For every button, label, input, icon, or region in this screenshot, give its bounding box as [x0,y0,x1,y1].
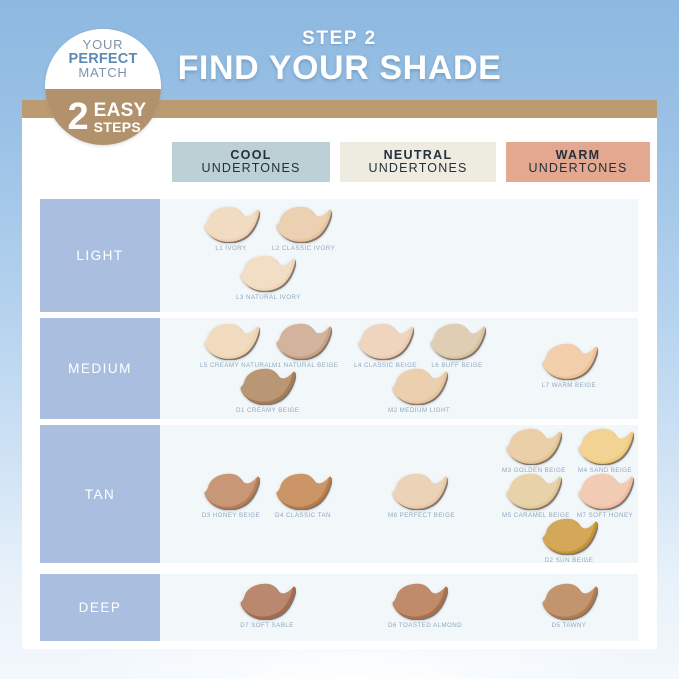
column-subtitle-warm: UNDERTONES [528,162,627,176]
shade-blob-icon [238,254,296,292]
shade-swatch[interactable]: L6 BUFF BEIGE [426,322,488,369]
shade-row-light: LIGHT L1 IVORYL2 CLASSIC IVORYL3 NATURAL… [40,199,638,312]
shade-blob-icon [390,582,448,620]
shade-name-label: D4 CLASSIC TAN [272,512,334,519]
shade-swatch[interactable]: M6 PERFECT BEIGE [388,472,450,519]
shade-blob-icon [504,427,562,465]
badge-bottom-half: 2 EASY STEPS [45,89,161,145]
shade-swatch[interactable]: D2 SUN BEIGE [538,517,600,564]
row-label-light: LIGHT [40,199,160,312]
column-subtitle-neutral: UNDERTONES [368,162,467,176]
shade-blob-icon [202,322,260,360]
column-title-neutral: NEUTRAL [384,149,453,163]
row-label-medium: MEDIUM [40,318,160,419]
shade-name-label: D6 TOASTED ALMOND [388,622,450,629]
column-headers: COOL UNDERTONES NEUTRAL UNDERTONES WARM … [172,142,650,182]
badge-line-perfect: PERFECT [68,52,137,67]
column-title-warm: WARM [556,149,601,163]
column-header-cool: COOL UNDERTONES [172,142,330,182]
shade-swatch[interactable]: M4 SAND BEIGE [574,427,636,474]
column-header-neutral: NEUTRAL UNDERTONES [340,142,496,182]
row-label-tan: TAN [40,425,160,563]
badge-step-number: 2 [67,98,88,136]
shade-swatch[interactable]: D5 TAWNY [538,582,600,629]
shade-name-label: M6 PERFECT BEIGE [388,512,450,519]
shade-swatch[interactable]: D3 HONEY BEIGE [200,472,262,519]
column-subtitle-cool: UNDERTONES [201,162,300,176]
shade-name-label: D5 TAWNY [538,622,600,629]
shade-blob-icon [390,472,448,510]
shade-name-label: D7 SOFT SABLE [236,622,298,629]
shade-name-label: D1 CREAMY BEIGE [236,407,298,414]
badge-steps-label: STEPS [94,120,147,134]
shade-swatch[interactable]: M2 MEDIUM LIGHT [388,367,450,414]
perfect-match-badge: YOUR PERFECT MATCH 2 EASY STEPS [45,29,161,145]
shade-swatch[interactable]: D7 SOFT SABLE [236,582,298,629]
shade-blob-icon [274,472,332,510]
shade-blob-icon [390,367,448,405]
shade-row-tan: TAN M3 GOLDEN BEIGEM4 SAND BEIGED3 HONEY… [40,425,638,563]
row-label-deep: DEEP [40,574,160,641]
column-title-cool: COOL [230,149,271,163]
shade-swatch[interactable]: M7 SOFT HONEY [574,472,636,519]
shade-name-label: D3 HONEY BEIGE [200,512,262,519]
shade-swatch[interactable]: L5 CREAMY NATURAL [200,322,262,369]
shade-blob-icon [274,322,332,360]
shade-name-label: M2 MEDIUM LIGHT [388,407,450,414]
shade-blob-icon [428,322,486,360]
shade-chart-card: COOL UNDERTONES NEUTRAL UNDERTONES WARM … [22,118,657,649]
shade-swatch[interactable]: L4 CLASSIC BEIGE [354,322,416,369]
shade-blob-icon [356,322,414,360]
shade-swatch[interactable]: L7 WARM BEIGE [538,342,600,389]
shade-name-label: L2 CLASSIC IVORY [272,245,334,252]
shade-blob-icon [540,517,598,555]
shade-blob-icon [540,342,598,380]
shade-name-label: L7 WARM BEIGE [538,382,600,389]
shade-blob-icon [540,582,598,620]
shade-name-label: L1 IVORY [200,245,262,252]
badge-top-half: YOUR PERFECT MATCH [45,29,161,89]
shade-swatch[interactable]: D4 CLASSIC TAN [272,472,334,519]
shade-blob-icon [202,472,260,510]
badge-easy-steps: EASY STEPS [94,101,147,134]
shade-blob-icon [274,205,332,243]
shade-blob-icon [576,427,634,465]
shade-swatch[interactable]: D1 CREAMY BEIGE [236,367,298,414]
shade-swatch[interactable]: L1 IVORY [200,205,262,252]
shade-row-deep: DEEP D7 SOFT SABLED6 TOASTED ALMONDD5 TA… [40,574,638,641]
shade-swatch[interactable]: D6 TOASTED ALMOND [388,582,450,629]
column-header-warm: WARM UNDERTONES [506,142,650,182]
badge-line-match: MATCH [78,66,127,79]
shade-name-label: D2 SUN BEIGE [538,557,600,564]
badge-easy-label: EASY [94,101,147,120]
shade-blob-icon [504,472,562,510]
badge-line-your: YOUR [83,38,124,51]
shade-swatch[interactable]: M5 CARAMEL BEIGE [502,472,564,519]
shade-blob-icon [202,205,260,243]
shade-blob-icon [238,582,296,620]
shade-swatch[interactable]: M3 GOLDEN BEIGE [502,427,564,474]
shade-name-label: L3 NATURAL IVORY [236,294,298,301]
shade-swatch[interactable]: M1 NATURAL BEIGE [272,322,334,369]
shade-swatch[interactable]: L3 NATURAL IVORY [236,254,298,301]
shade-swatch[interactable]: L2 CLASSIC IVORY [272,205,334,252]
shade-row-medium: MEDIUM L5 CREAMY NATURALM1 NATURAL BEIGE… [40,318,638,419]
shade-blob-icon [576,472,634,510]
shade-blob-icon [238,367,296,405]
